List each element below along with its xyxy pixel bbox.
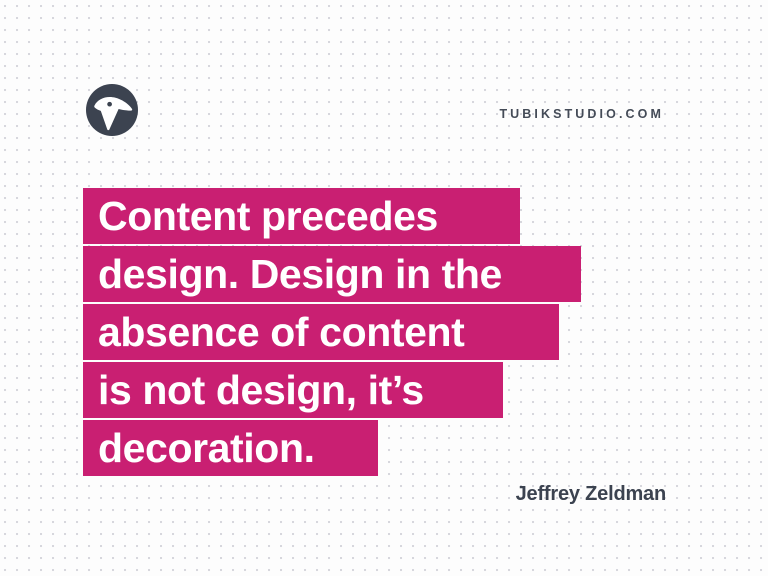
quote-line: design. Design in the (83, 246, 581, 302)
quote-line: Content precedes (83, 188, 520, 244)
quote-line: is not design, it’s (83, 362, 503, 418)
quote-poster: TUBIKSTUDIO.COM Content precedes design.… (0, 0, 768, 576)
site-url-label: TUBIKSTUDIO.COM (499, 107, 664, 121)
tubik-dog-head-logo-icon (86, 84, 138, 136)
quote-line: decoration. (83, 420, 378, 476)
quote-text-block: Content precedes design. Design in the a… (83, 188, 581, 476)
quote-line: absence of content (83, 304, 559, 360)
quote-author-label: Jeffrey Zeldman (516, 483, 666, 506)
